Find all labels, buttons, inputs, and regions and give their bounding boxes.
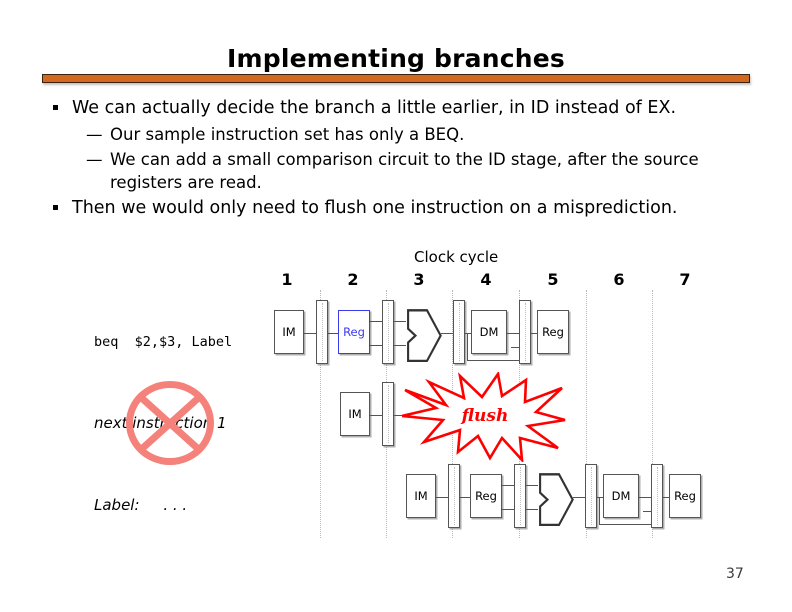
wire-dm-bypass-down-row3 [599,497,600,525]
bullet-item-4: Then we would only need to flush one ins… [48,196,748,221]
pipeline-register-exmem-row3 [585,464,597,528]
pipeline-register-idex-row1 [382,300,394,364]
cycle-number-3: 3 [409,270,429,289]
preg-dotted-divider [388,385,389,443]
cycle-number-2: 2 [343,270,363,289]
pipeline-register-idex-row3 [514,464,526,528]
cycle-number-4: 4 [476,270,496,289]
pipeline-register-exmem-row1 [453,300,465,364]
cycle-number-5: 5 [543,270,563,289]
page-number: 37 [726,566,744,582]
wire-dm-bypass-row1 [467,360,523,361]
preg-dotted-divider [388,303,389,361]
flush-burst: flush [402,372,568,462]
preg-dotted-divider [657,467,658,525]
stage-alu-row1 [404,302,446,364]
page-title: Implementing branches [0,44,792,73]
wire-dm-bypass-row3 [599,524,655,525]
pipeline-register-memwb-row3 [651,464,663,528]
stage-dm-row3: DM [603,474,639,518]
pipeline-register-ifid-row3 [448,464,460,528]
preg-dotted-divider [454,467,455,525]
stage-im-row3: IM [406,474,436,518]
bullet-text: We can add a small comparison circuit to… [110,150,699,192]
stage-im-row2: IM [340,392,370,436]
dash-bullet-icon: — [86,148,103,171]
preg-dotted-divider [591,467,592,525]
bullet-text: Then we would only need to flush one ins… [72,198,677,218]
pipeline-register-ifid-row1 [316,300,328,364]
bullet-item-2: — Our sample instruction set has only a … [48,123,748,146]
cycle-number-6: 6 [609,270,629,289]
stage-reg-wb-row3: Reg [669,474,701,518]
stage-reg-row3: Reg [470,474,502,518]
instruction-label-beq: beq $2,$3, Label [94,334,232,350]
square-bullet-icon [53,205,58,210]
pipeline-diagram: Clock cycle 1 2 3 4 5 6 7 beq $2,$3, Lab… [0,244,792,554]
bullet-text: We can actually decide the branch a litt… [72,98,676,118]
dash-bullet-icon: — [86,123,103,146]
pipeline-register-memwb-row1 [519,300,531,364]
cycle-number-1: 1 [277,270,297,289]
square-bullet-icon [53,105,58,110]
preg-dotted-divider [520,467,521,525]
preg-dotted-divider [322,303,323,361]
preg-dotted-divider [525,303,526,361]
bullet-list: We can actually decide the branch a litt… [48,96,748,222]
cancelled-instruction-icon [126,381,214,465]
preg-dotted-divider [459,303,460,361]
pipeline-register-ifid-row2 [382,382,394,446]
stage-reg-wb-row1: Reg [537,310,569,354]
bullet-item-3: — We can add a small comparison circuit … [48,148,748,194]
bullet-text: Our sample instruction set has only a BE… [110,125,464,144]
stage-alu-row3 [536,466,578,528]
stage-dm-row1: DM [471,310,507,354]
instruction-label-target: Label: . . . [94,496,187,514]
bullet-item-1: We can actually decide the branch a litt… [48,96,748,121]
stage-im-row1: IM [274,310,304,354]
cycle-number-7: 7 [675,270,695,289]
wire-dm-bypass-down-row1 [467,333,468,361]
stage-reg-row1: Reg [338,310,370,354]
clock-cycle-axis-label: Clock cycle [414,248,498,266]
flush-label: flush [402,406,568,426]
title-underline-rule [42,74,750,83]
